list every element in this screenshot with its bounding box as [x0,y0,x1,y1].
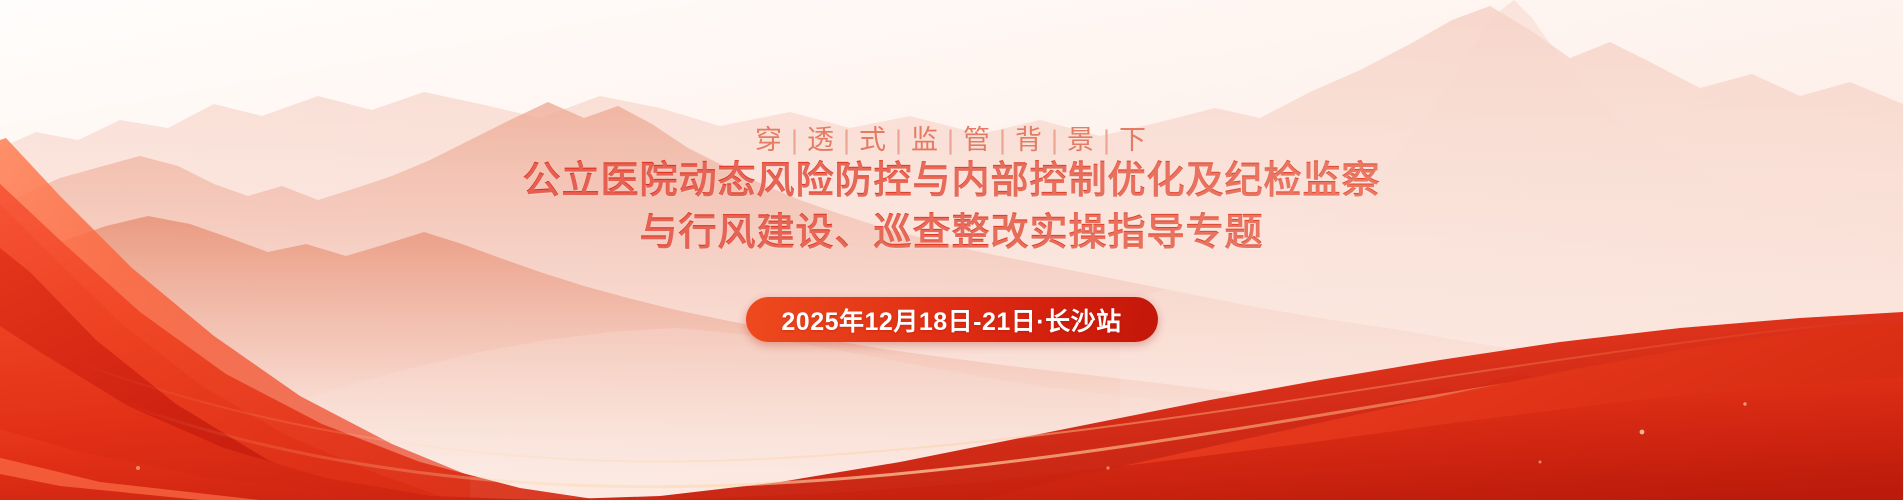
subtitle-separator: | [786,125,805,155]
subtitle-char: 管 [961,125,994,155]
event-banner: 穿|透|式|监|管|背|景|下 公立医院动态风险防控与内部控制优化及纪检监察 与… [0,0,1903,500]
subtitle-char: 式 [857,125,890,155]
subtitle-separator: | [942,125,961,155]
subtitle-separator: | [994,125,1013,155]
subtitle-char: 穿 [753,125,786,155]
banner-title: 公立医院动态风险防控与内部控制优化及纪检监察 与行风建设、巡查整改实操指导专题 [0,158,1903,256]
subtitle-separator: | [838,125,857,155]
title-line-1: 公立医院动态风险防控与内部控制优化及纪检监察 [0,158,1903,204]
date-location-text: 2025年12月18日-21日·长沙站 [781,302,1121,338]
banner-subtitle: 穿|透|式|监|管|背|景|下 [0,121,1903,159]
date-location-badge: 2025年12月18日-21日·长沙站 [746,297,1158,342]
subtitle-char: 下 [1117,125,1150,155]
subtitle-separator: | [1098,125,1117,155]
subtitle-char: 透 [805,125,838,155]
subtitle-char: 监 [909,125,942,155]
subtitle-char: 景 [1065,125,1098,155]
title-line-2: 与行风建设、巡查整改实操指导专题 [0,210,1903,256]
banner-content: 穿|透|式|监|管|背|景|下 公立医院动态风险防控与内部控制优化及纪检监察 与… [0,0,1903,500]
subtitle-char: 背 [1013,125,1046,155]
subtitle-separator: | [1046,125,1065,155]
subtitle-separator: | [890,125,909,155]
